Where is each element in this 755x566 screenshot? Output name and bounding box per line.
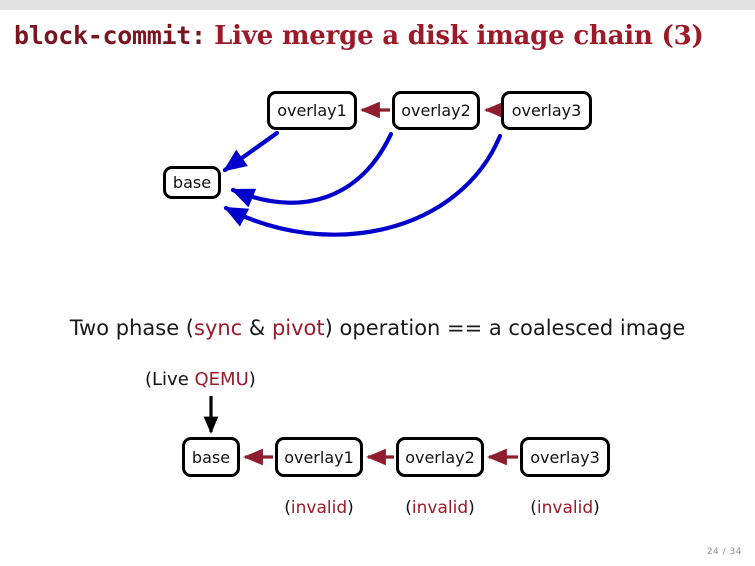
invalid-label-overlay1-prefix: ( [284, 498, 291, 518]
top-node-overlay1-label: overlay1 [277, 101, 347, 120]
phase-caption: Two phase (sync & pivot) operation == a … [0, 316, 755, 340]
bottom-node-overlay1-label: overlay1 [284, 448, 354, 467]
bottom-node-base-label: base [192, 448, 230, 467]
phase-caption-part1: Two phase ( [70, 316, 194, 340]
live-qemu-suffix: ) [249, 369, 256, 390]
bottom-node-overlay2-label: overlay2 [405, 448, 475, 467]
invalid-label-overlay3-prefix: ( [530, 498, 537, 518]
bottom-node-overlay2[interactable]: overlay2 [396, 437, 484, 477]
phase-caption-part2: & [242, 316, 272, 340]
slide-top-band [0, 0, 755, 10]
live-qemu-prefix: (Live [145, 369, 195, 390]
bottom-node-overlay3[interactable]: overlay3 [520, 437, 610, 477]
top-node-base-label: base [173, 173, 211, 192]
phase-caption-part3: ) operation == a coalesced image [325, 316, 686, 340]
invalid-label-overlay3-suffix: ) [593, 498, 600, 518]
top-node-overlay3-label: overlay3 [512, 101, 582, 120]
top-node-overlay2-label: overlay2 [401, 101, 471, 120]
top-node-overlay1[interactable]: overlay1 [267, 91, 357, 130]
invalid-label-overlay2-accent: invalid [412, 498, 468, 518]
invalid-label-overlay3: (invalid) [505, 498, 625, 518]
bottom-node-overlay1[interactable]: overlay1 [275, 437, 363, 477]
invalid-label-overlay1-accent: invalid [291, 498, 347, 518]
title-description: Live merge a disk image chain (3) [214, 21, 704, 51]
live-qemu-accent: QEMU [195, 369, 249, 390]
top-diagram-arrow-layer [0, 0, 755, 566]
invalid-label-overlay2: (invalid) [380, 498, 500, 518]
title-separator: : [191, 21, 206, 50]
live-qemu-label: (Live QEMU) [145, 369, 256, 390]
page-counter: 24 / 34 [707, 547, 742, 557]
bottom-node-base[interactable]: base [182, 437, 240, 477]
top-node-overlay2[interactable]: overlay2 [392, 91, 480, 130]
top-commit-arrow-overlay1-to-base [225, 133, 277, 170]
top-node-overlay3[interactable]: overlay3 [501, 91, 592, 130]
page-title: block-commit:Live merge a disk image cha… [14, 16, 744, 56]
invalid-label-overlay1: (invalid) [259, 498, 379, 518]
invalid-label-overlay2-suffix: ) [468, 498, 475, 518]
invalid-label-overlay1-suffix: ) [347, 498, 354, 518]
phase-caption-sync: sync [194, 316, 242, 340]
bottom-node-overlay3-label: overlay3 [530, 448, 600, 467]
phase-caption-pivot: pivot [272, 316, 325, 340]
invalid-label-overlay3-accent: invalid [537, 498, 593, 518]
top-commit-arrow-overlay2-to-base [233, 134, 391, 203]
invalid-label-overlay2-prefix: ( [405, 498, 412, 518]
top-node-base[interactable]: base [163, 166, 221, 199]
top-commit-arrow-overlay3-to-base [226, 136, 500, 235]
title-command: block-commit [14, 21, 191, 50]
